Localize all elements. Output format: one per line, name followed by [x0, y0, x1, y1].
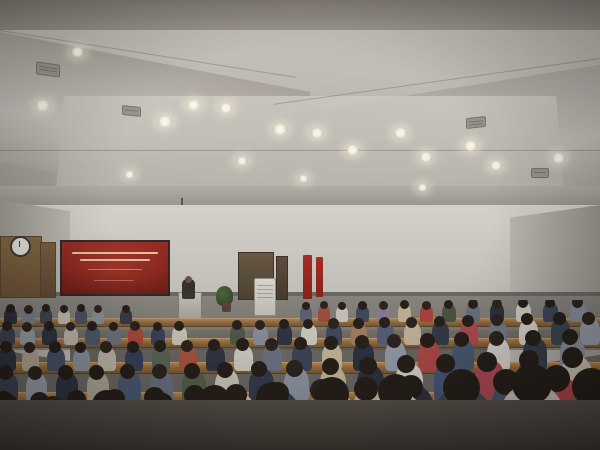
red-wall-banner — [316, 257, 323, 297]
audience-head — [60, 305, 68, 313]
ceiling-downlight — [34, 100, 51, 111]
red-wall-banner — [303, 255, 312, 299]
ceiling-downlight — [489, 161, 503, 170]
audience-head — [338, 302, 346, 310]
projection-screen — [62, 242, 168, 294]
audience-head — [127, 341, 139, 353]
audience-head — [294, 337, 307, 350]
ceiling-downlight — [393, 128, 408, 138]
ceiling-shadow-band — [0, 0, 600, 30]
lecture-hall-photograph: Lecture hall assembly with seated audien… — [0, 0, 600, 450]
ceiling-downlight — [463, 141, 478, 151]
audience-head — [454, 332, 469, 347]
ceiling-vent — [531, 168, 549, 178]
audience-head — [303, 319, 313, 329]
ceiling-downlight — [236, 157, 248, 165]
ceiling-downlight — [310, 128, 324, 138]
wall-clock — [10, 236, 31, 257]
audience-head — [444, 300, 453, 309]
audience-head — [354, 377, 378, 401]
audience-head — [406, 317, 417, 328]
audience-head — [322, 358, 339, 375]
audience-head — [89, 365, 104, 380]
audience-head — [434, 316, 445, 327]
ceiling-downlight — [272, 124, 288, 135]
audience-head — [491, 314, 503, 326]
floor — [0, 400, 600, 450]
audience-head — [184, 363, 200, 379]
audience-head — [232, 320, 242, 330]
audience-head — [66, 322, 75, 331]
ceiling-downlight — [298, 175, 309, 182]
screen-text-line — [88, 269, 142, 270]
audience-head — [400, 300, 409, 309]
audience-head — [28, 366, 42, 380]
ceiling-downlight — [345, 145, 360, 155]
audience-head — [42, 304, 50, 312]
audience-head — [208, 339, 220, 351]
audience-head — [22, 322, 32, 332]
audience-head — [477, 352, 497, 372]
presenter-head — [185, 276, 192, 283]
audience-head — [462, 315, 474, 327]
audience-head — [525, 330, 541, 346]
audience-head — [251, 361, 267, 377]
ceiling-vent — [122, 105, 141, 117]
audience-head — [489, 331, 504, 346]
audience-head — [562, 347, 583, 368]
audience-head — [397, 355, 415, 373]
ceiling-downlight — [551, 153, 566, 163]
audience-head — [379, 301, 388, 310]
audience-head — [553, 312, 566, 325]
ceiling-seam — [0, 150, 600, 151]
audience-head — [24, 305, 33, 314]
audience-head — [181, 340, 193, 352]
audience-head — [387, 334, 401, 348]
audience-head — [109, 322, 118, 331]
audience-head — [320, 301, 328, 309]
audience-head — [324, 336, 338, 350]
audience-head — [75, 342, 86, 353]
audience-head — [77, 304, 85, 312]
audience-head — [6, 304, 15, 313]
audience-head — [358, 301, 367, 310]
audience-head — [130, 321, 140, 331]
audience-head — [422, 301, 431, 310]
audience-head — [49, 341, 61, 353]
audience-head — [521, 313, 533, 325]
audience-head — [94, 305, 102, 313]
audience-head — [120, 364, 135, 379]
audience-head — [302, 302, 310, 310]
audience-head — [44, 321, 54, 331]
audience-head — [328, 318, 339, 329]
audience-head — [512, 364, 552, 404]
ceiling-downlight — [124, 171, 135, 178]
ceiling-downlight — [419, 152, 433, 162]
ceiling-downlight — [70, 47, 85, 57]
screen-text-line — [72, 252, 158, 254]
audience-head — [359, 357, 377, 375]
audience-head — [217, 362, 233, 378]
ceiling-vent — [466, 116, 486, 129]
audience-head — [0, 341, 12, 353]
ceiling-downlight — [219, 103, 233, 113]
audience-head — [154, 340, 166, 352]
ceiling — [0, 0, 600, 215]
audience-head — [420, 333, 435, 348]
ceiling-downlight — [186, 100, 201, 110]
audience-head — [562, 329, 578, 345]
ceiling-downlight — [417, 184, 428, 191]
audience-head — [122, 305, 130, 313]
audience-head — [379, 317, 390, 328]
audience-head — [279, 319, 289, 329]
audience-head — [2, 321, 12, 331]
audience-head — [582, 312, 595, 325]
audience-head — [353, 318, 364, 329]
screen-text-line — [80, 259, 150, 261]
screen-text-line — [94, 280, 134, 281]
audience-head — [174, 321, 184, 331]
audience-head — [152, 364, 167, 379]
audience-head — [236, 338, 249, 351]
audience-head — [87, 321, 97, 331]
ceiling-downlight — [157, 116, 173, 127]
audience-head — [355, 335, 369, 349]
wood-wall-panel — [40, 242, 56, 298]
audience-head — [265, 338, 278, 351]
audience-head — [255, 320, 265, 330]
audience-head — [286, 360, 303, 377]
audience-head — [153, 322, 162, 331]
audience-head — [24, 342, 35, 353]
stage-door-secondary — [276, 256, 288, 300]
audience-head — [100, 341, 112, 353]
audience-head — [58, 365, 73, 380]
